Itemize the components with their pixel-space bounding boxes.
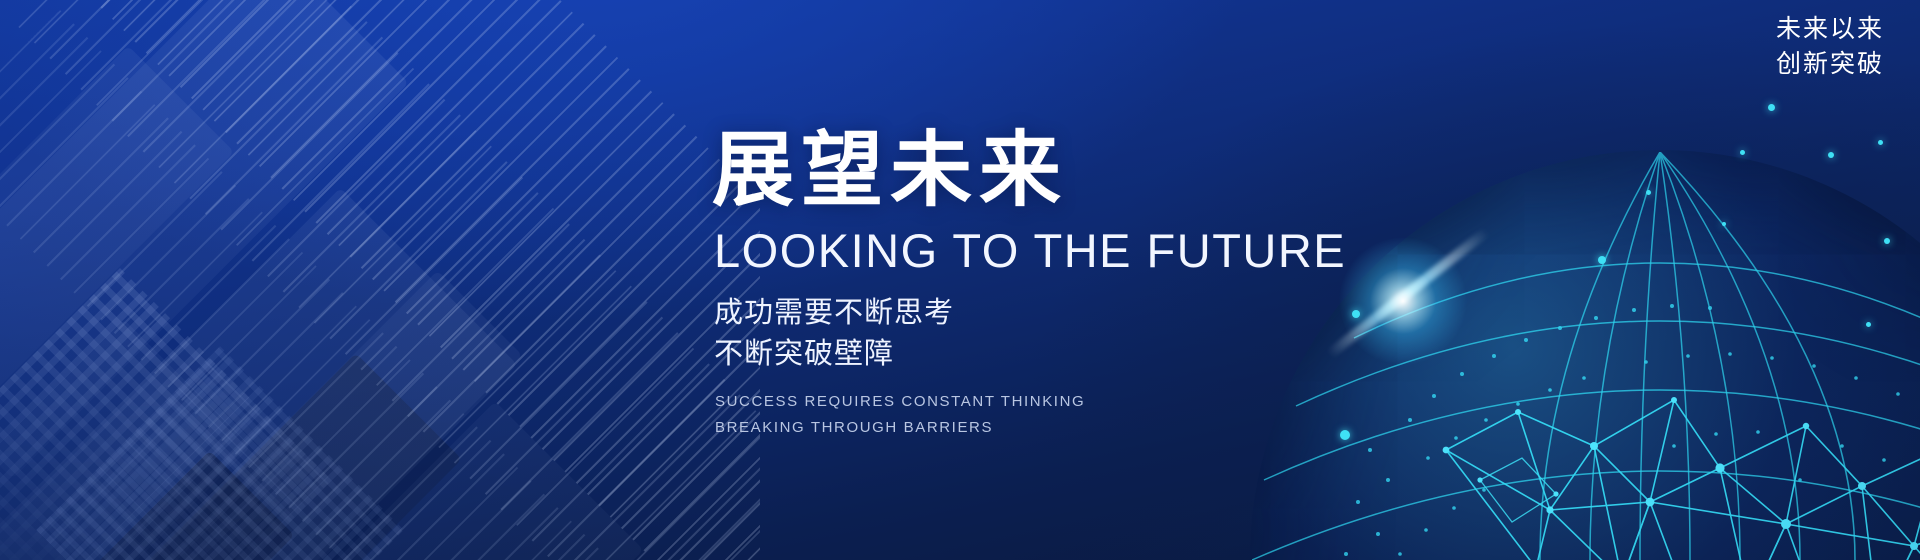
diagonal-line-bundle xyxy=(0,10,760,560)
accent-dot xyxy=(1884,238,1890,244)
accent-dot xyxy=(1740,150,1745,155)
page-title: 展望未来 xyxy=(712,128,1432,215)
tagline-chinese-line-1: 成功需要不断思考 xyxy=(714,293,1432,334)
decorative-slab xyxy=(0,188,517,560)
tagline-english-line-1: SUCCESS REQUIRES CONSTANT THINKING xyxy=(715,389,1432,415)
accent-dot xyxy=(1768,104,1775,111)
accent-dot xyxy=(1828,152,1834,158)
decorative-slab xyxy=(0,319,251,560)
subtitle-english: LOOKING TO THE FUTURE xyxy=(714,225,1432,277)
accent-dot xyxy=(1722,222,1726,226)
decorative-slab-dark xyxy=(0,353,462,560)
tagline-chinese-line-2: 不断突破壁障 xyxy=(714,334,1432,375)
accent-dot xyxy=(1866,322,1871,327)
accent-dot xyxy=(1878,140,1883,145)
promo-banner: 未来以来 创新突破 展望未来 LOOKING TO THE FUTURE 成功需… xyxy=(0,0,1920,560)
diagonal-line-bundle xyxy=(67,0,760,560)
decorative-slab xyxy=(134,271,523,560)
corner-slogan-line-2: 创新突破 xyxy=(1776,47,1884,82)
headline-block: 展望未来 LOOKING TO THE FUTURE 成功需要不断思考 不断突破… xyxy=(712,128,1432,441)
decorative-slab xyxy=(226,401,643,560)
tagline-english-line-2: BREAKING THROUGH BARRIERS xyxy=(715,415,1432,441)
left-geometric-decoration xyxy=(0,0,760,560)
accent-dot xyxy=(1646,190,1651,195)
diagonal-line-bundle xyxy=(18,0,760,560)
decorative-slab xyxy=(0,0,409,479)
decorative-slab xyxy=(0,46,234,484)
corner-slogan: 未来以来 创新突破 xyxy=(1776,12,1884,81)
tagline-chinese: 成功需要不断思考 不断突破壁障 xyxy=(714,293,1432,375)
halftone-dot-grid xyxy=(0,268,332,560)
halftone-dot-grid xyxy=(36,346,404,560)
accent-dot xyxy=(1598,256,1606,264)
corner-slogan-line-1: 未来以来 xyxy=(1776,12,1884,47)
decorative-slab-dark xyxy=(0,451,294,560)
tagline-english: SUCCESS REQUIRES CONSTANT THINKING BREAK… xyxy=(715,389,1432,442)
